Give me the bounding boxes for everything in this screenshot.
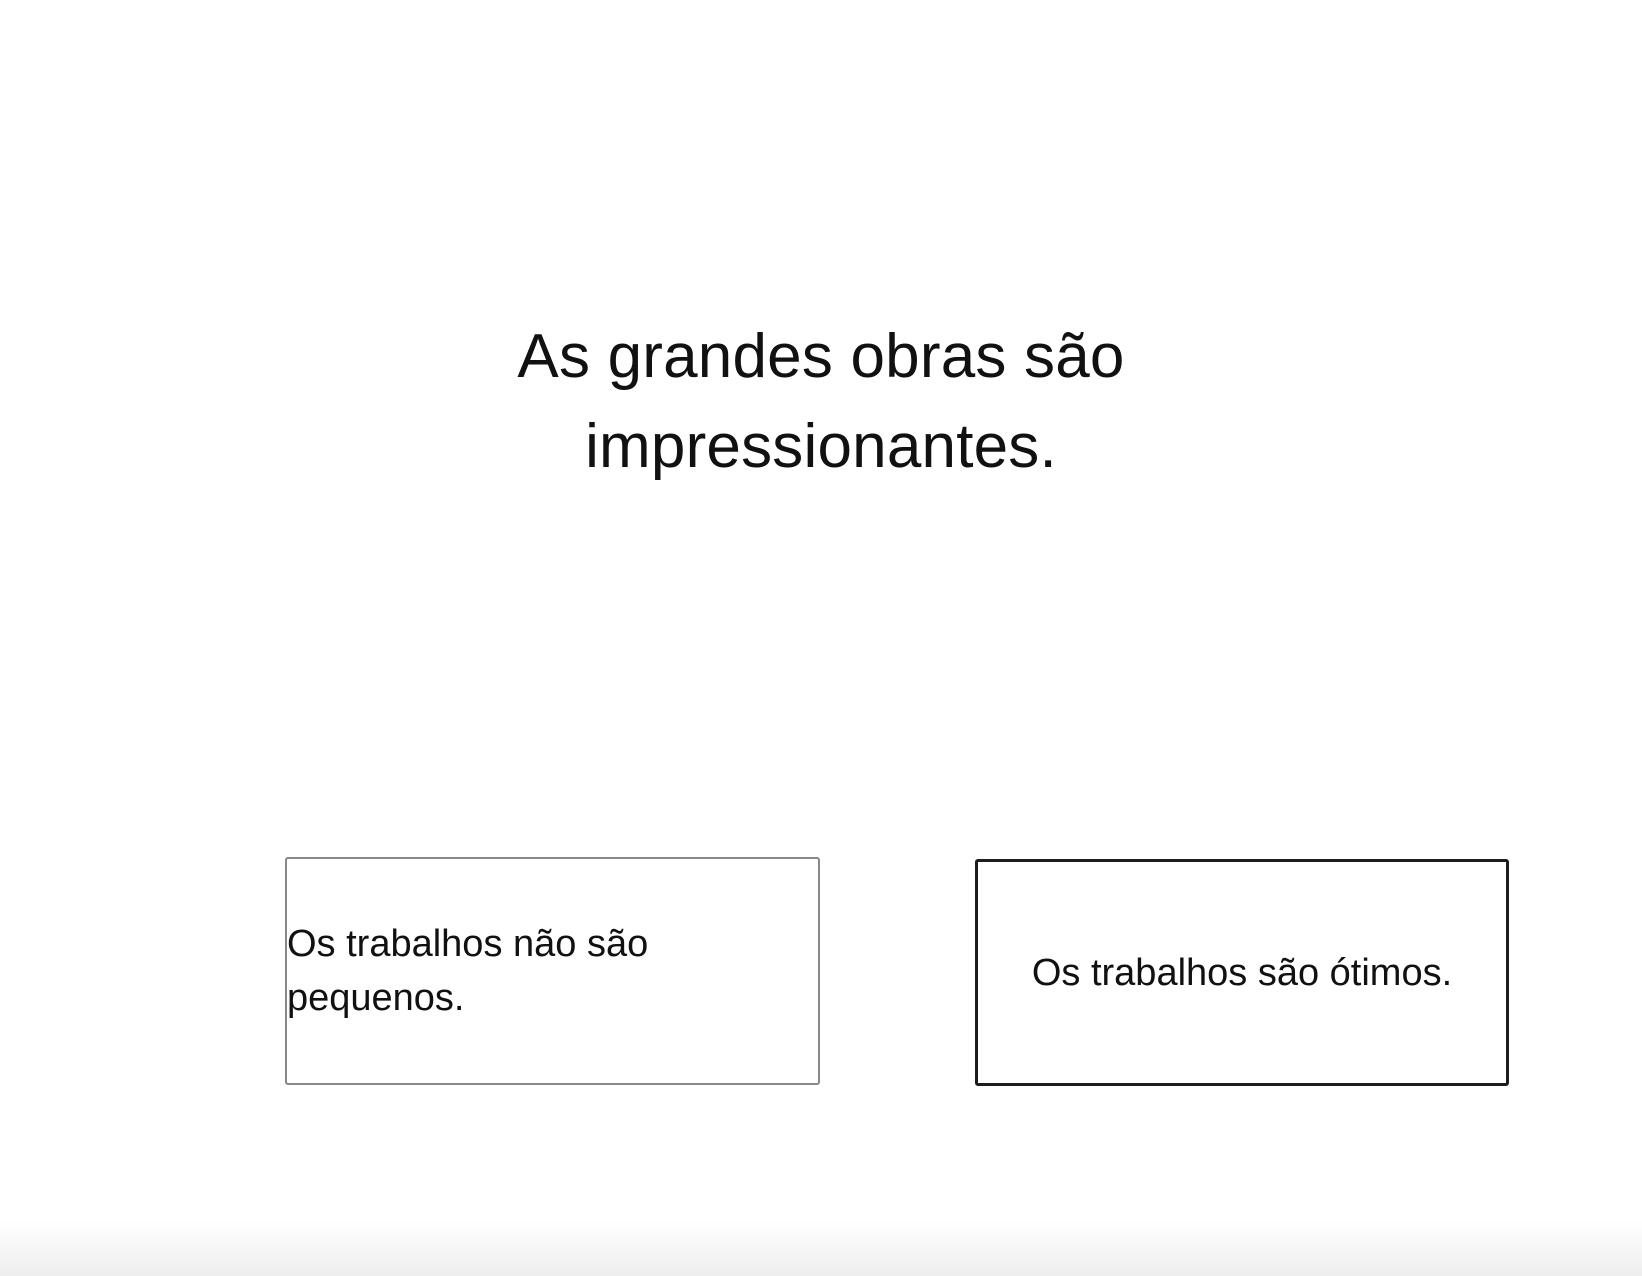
answer-option-right[interactable]: Os trabalhos são ótimos.: [975, 859, 1509, 1086]
answer-option-right-label: Os trabalhos são ótimos.: [978, 946, 1506, 1000]
question-prompt: As grandes obras são impressionantes.: [411, 312, 1231, 492]
exercise-page: As grandes obras são impressionantes. Os…: [0, 0, 1642, 1276]
answer-option-left[interactable]: Os trabalhos não são pequenos.: [285, 857, 820, 1085]
bottom-edge-gradient: [0, 1220, 1642, 1276]
answer-option-left-label: Os trabalhos não são pequenos.: [287, 917, 818, 1025]
